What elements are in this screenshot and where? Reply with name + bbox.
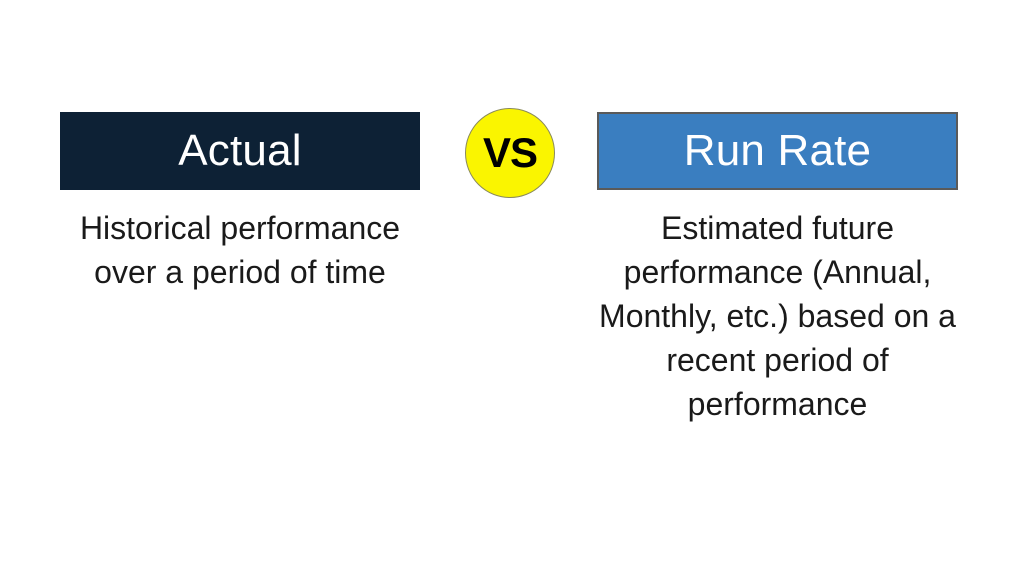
comparison-slide: Actual Historical performance over a per… <box>0 0 1024 576</box>
comparison-column-run-rate: Run Rate Estimated future performance (A… <box>597 112 958 426</box>
actual-description: Historical performance over a period of … <box>60 206 420 294</box>
comparison-column-actual: Actual Historical performance over a per… <box>60 112 420 294</box>
run-rate-description: Estimated future performance (Annual, Mo… <box>597 206 958 426</box>
run-rate-header-title: Run Rate <box>684 129 871 173</box>
actual-header-box: Actual <box>60 112 420 190</box>
vs-label: VS <box>483 132 537 174</box>
actual-header-title: Actual <box>178 129 302 173</box>
run-rate-header-box: Run Rate <box>597 112 958 190</box>
vs-badge: VS <box>465 108 555 198</box>
